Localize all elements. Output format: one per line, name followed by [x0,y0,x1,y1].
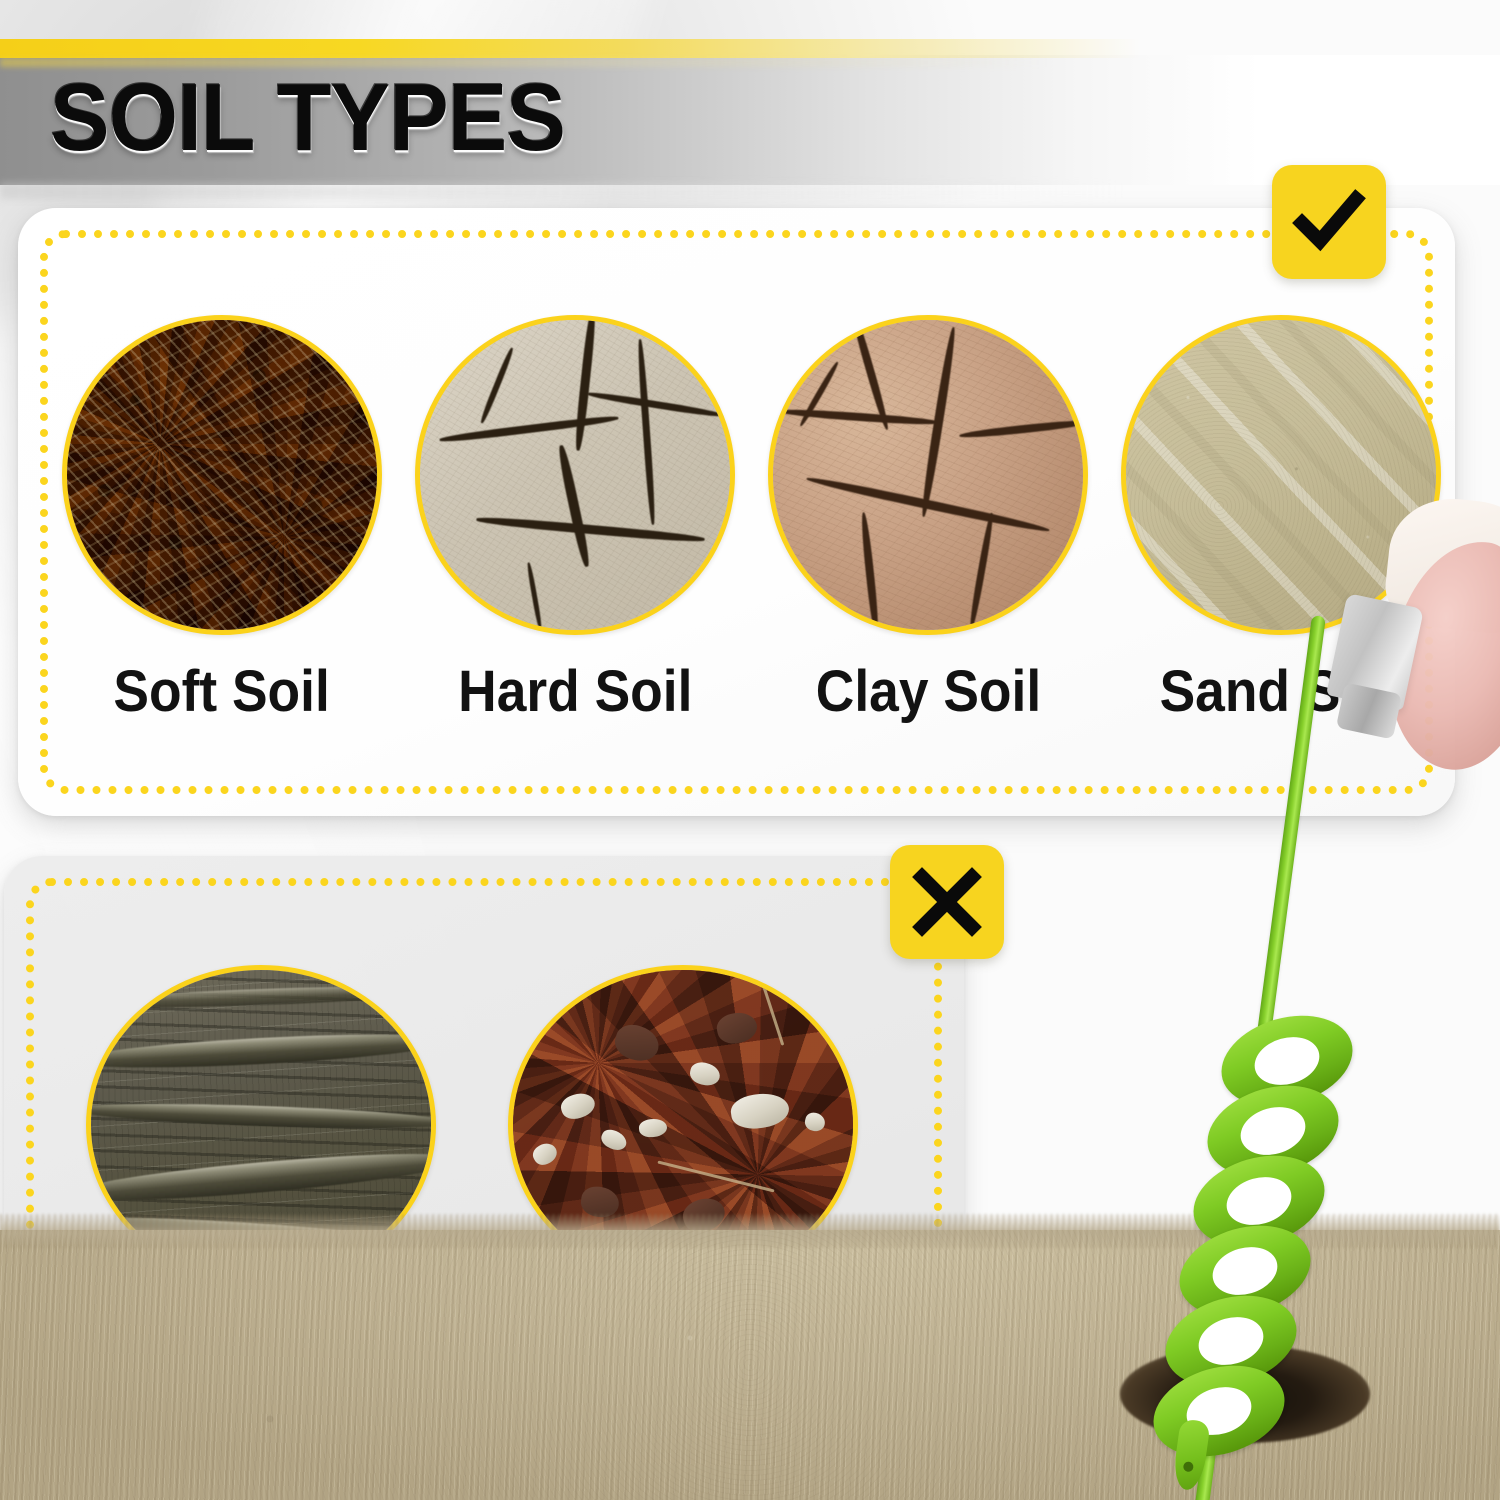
clay-soil-thumbnail [768,315,1088,635]
soil-item-soft[interactable]: Soft Soil [62,315,382,723]
hard-soil-thumbnail [415,315,735,635]
soil-label: Hard Soil [458,661,692,723]
soft-soil-thumbnail [62,315,382,635]
cross-badge [890,845,1004,959]
soil-item-clay[interactable]: Clay Soil [768,315,1088,723]
header-yellow-stripe [0,39,1500,58]
soil-item-hard[interactable]: Hard Soil [415,315,735,723]
spiral-auger-drill-bit [1140,420,1500,1460]
soil-label: Soft Soil [114,661,330,723]
infographic-canvas: SOIL TYPES Soft Soil [0,0,1500,1500]
check-badge [1272,165,1386,279]
page-title: SOIL TYPES [50,66,565,170]
check-icon [1292,185,1366,259]
soil-label: Clay Soil [815,661,1040,723]
cross-icon [912,867,982,937]
auger-flight [1143,1351,1296,1471]
